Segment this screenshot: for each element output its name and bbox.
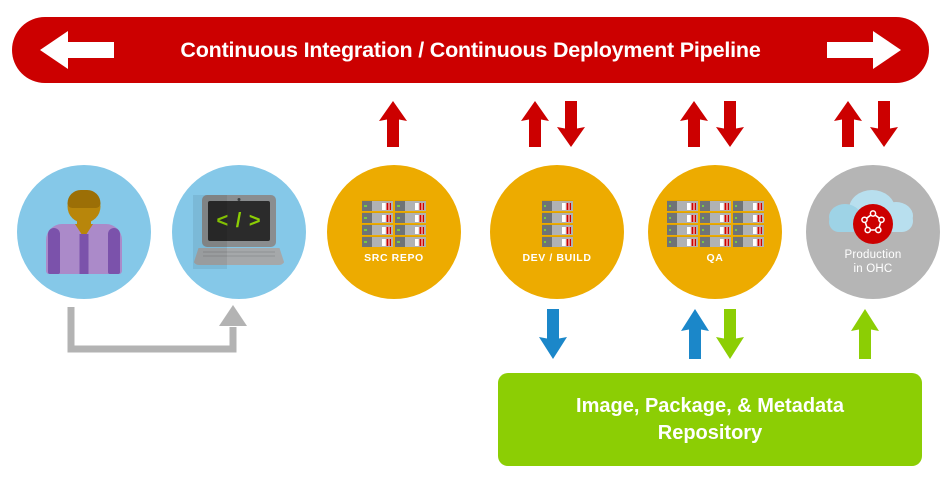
node-label-dev-build: DEV / BUILD [522, 252, 591, 264]
code-glyph: < / > [216, 210, 261, 233]
pipeline-banner: Continuous Integration / Continuous Depl… [12, 17, 929, 83]
node-developer[interactable] [17, 165, 151, 299]
node-production[interactable]: Production in OHC [806, 165, 940, 299]
openshift-glyph-icon [859, 210, 887, 238]
arrow-down-icon-qa [714, 100, 746, 148]
arrow-down-icon-dev-build [555, 100, 587, 148]
arrow-down-icon-qa-to-repo [714, 308, 746, 360]
node-label-src-repo: SRC REPO [364, 252, 424, 264]
repository-box[interactable]: Image, Package, & Metadata Repository [498, 373, 922, 466]
node-label-production: Production in OHC [845, 249, 902, 276]
banner-title: Continuous Integration / Continuous Depl… [180, 38, 760, 63]
cloud-openshift-icon [827, 188, 919, 244]
server-rack-icon [542, 200, 573, 247]
arrow-up-icon-dev-build [519, 100, 551, 148]
node-workstation[interactable]: < / > [172, 165, 306, 299]
arrow-left-icon [38, 28, 116, 72]
arrow-up-icon-repo-to-qa [679, 308, 711, 360]
diagram-canvas: Continuous Integration / Continuous Depl… [0, 0, 941, 500]
person-icon [46, 190, 122, 274]
arrow-up-icon-qa [678, 100, 710, 148]
arrow-down-icon-production [868, 100, 900, 148]
arrow-up-icon-repo-to-production [849, 308, 881, 360]
developer-to-workstation-connector [66, 305, 256, 360]
arrow-up-icon-src-repo [377, 100, 409, 148]
node-label-qa: QA [707, 252, 724, 264]
node-qa[interactable]: QA [648, 165, 782, 299]
server-rack-icon [667, 200, 764, 247]
laptop-code-icon: < / > [193, 195, 285, 269]
arrow-right-icon [825, 28, 903, 72]
arrow-up-icon-production [832, 100, 864, 148]
server-rack-icon [362, 200, 426, 247]
node-src-repo[interactable]: SRC REPO [327, 165, 461, 299]
arrow-down-icon-dev-build-to-repo [537, 308, 569, 360]
node-dev-build[interactable]: DEV / BUILD [490, 165, 624, 299]
repository-label: Image, Package, & Metadata Repository [576, 393, 844, 447]
